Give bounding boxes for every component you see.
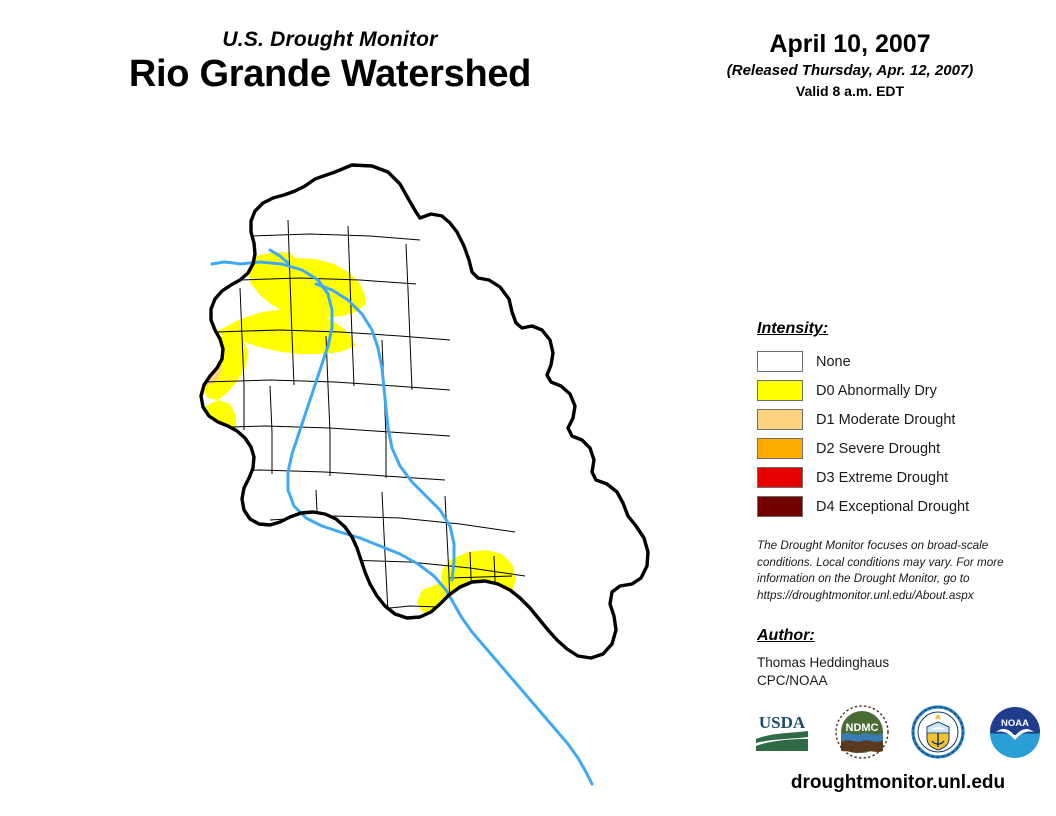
header-right: April 10, 2007 (Released Thursday, Apr. … bbox=[690, 30, 1010, 99]
legend-title: Intensity: bbox=[757, 320, 1027, 338]
legend-label-d1: D1 Moderate Drought bbox=[816, 412, 955, 428]
legend-label-none: None bbox=[816, 354, 851, 370]
legend-swatch-d2 bbox=[757, 438, 803, 459]
legend-item-d3: D3 Extreme Drought bbox=[757, 463, 1027, 492]
disclaimer-text: The Drought Monitor focuses on broad-sca… bbox=[757, 538, 1025, 604]
ndmc-logo: NDMC bbox=[835, 705, 889, 764]
legend-label-d4: D4 Exceptional Drought bbox=[816, 499, 969, 515]
legend-label-d0: D0 Abnormally Dry bbox=[816, 383, 937, 399]
legend-item-d0: D0 Abnormally Dry bbox=[757, 376, 1027, 405]
legend-item-d2: D2 Severe Drought bbox=[757, 434, 1027, 463]
legend-swatch-d1 bbox=[757, 409, 803, 430]
legend-label-d2: D2 Severe Drought bbox=[816, 441, 940, 457]
legend-item-d4: D4 Exceptional Drought bbox=[757, 492, 1027, 521]
map-svg bbox=[120, 160, 650, 800]
author-affiliation: CPC/NOAA bbox=[757, 672, 1017, 690]
cpc-noaa-seal-logo bbox=[911, 705, 965, 764]
usda-logo-text: USDA bbox=[759, 713, 806, 732]
watershed-base bbox=[201, 165, 648, 658]
website-url[interactable]: droughtmonitor.unl.edu bbox=[752, 772, 1044, 794]
page-title: Rio Grande Watershed bbox=[90, 53, 570, 97]
drought-area-d0-southwest-box bbox=[167, 488, 194, 514]
map-date: April 10, 2007 bbox=[690, 30, 1010, 59]
legend: Intensity: None D0 Abnormally Dry D1 Mod… bbox=[757, 320, 1027, 521]
agency-logos: USDA NDMC bbox=[752, 703, 1042, 765]
ndmc-logo-text: NDMC bbox=[845, 722, 878, 734]
legend-item-none: None bbox=[757, 347, 1027, 376]
drought-area-d0-southeast-tail bbox=[584, 732, 616, 762]
tributary-northwest bbox=[212, 262, 240, 264]
legend-label-d3: D3 Extreme Drought bbox=[816, 470, 948, 486]
usda-logo: USDA bbox=[752, 709, 812, 760]
valid-time: Valid 8 a.m. EDT bbox=[690, 83, 1010, 99]
legend-swatch-d0 bbox=[757, 380, 803, 401]
release-date: (Released Thursday, Apr. 12, 2007) bbox=[690, 62, 1010, 79]
legend-swatch-d4 bbox=[757, 496, 803, 517]
header-left: U.S. Drought Monitor Rio Grande Watershe… bbox=[90, 28, 570, 97]
noaa-logo: NOAA bbox=[988, 705, 1042, 764]
program-title: U.S. Drought Monitor bbox=[90, 28, 570, 51]
legend-swatch-none bbox=[757, 351, 803, 372]
legend-swatch-d3 bbox=[757, 467, 803, 488]
author-title: Author: bbox=[757, 627, 1017, 645]
legend-item-d1: D1 Moderate Drought bbox=[757, 405, 1027, 434]
drought-map bbox=[120, 160, 650, 800]
drought-area-d1-southeast-tail bbox=[564, 708, 600, 742]
author-name: Thomas Heddinghaus bbox=[757, 654, 1017, 672]
author-block: Author: Thomas Heddinghaus CPC/NOAA bbox=[757, 627, 1017, 690]
noaa-logo-text: NOAA bbox=[1001, 718, 1029, 729]
drought-area-d0-west-lower bbox=[196, 456, 228, 500]
